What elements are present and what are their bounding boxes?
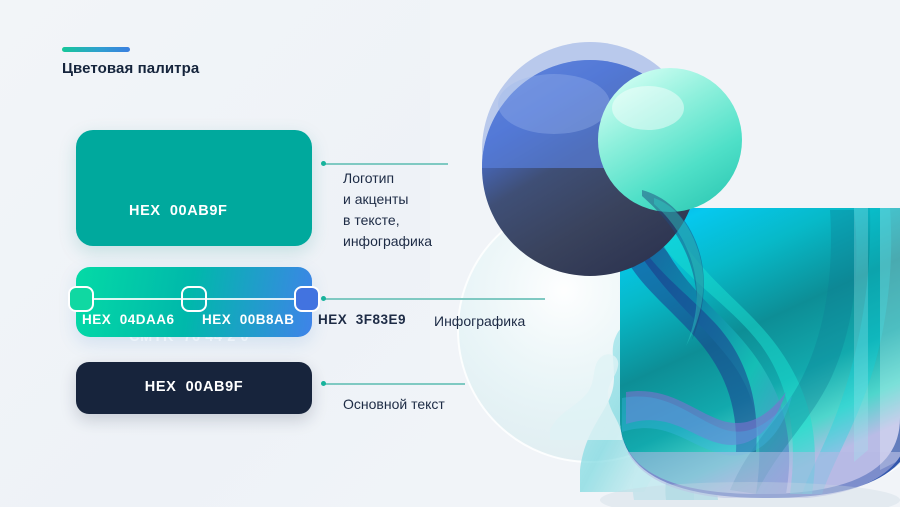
swatch-primary-hex: HEX 00AB9F bbox=[129, 201, 249, 222]
gradient-stop-2-label: HEX 00B8AB bbox=[202, 312, 295, 327]
swatch-dark-hex: HEX 00AB9F bbox=[76, 379, 312, 395]
swatch-card-gradient[interactable]: HEX 04DAA6 HEX 00B8AB bbox=[76, 267, 312, 337]
annotation-primary-l4: инфографика bbox=[343, 231, 432, 252]
gradient-pillar bbox=[620, 208, 900, 498]
annotation-dark: Основной текст bbox=[343, 394, 445, 415]
connector-line-gradient bbox=[322, 298, 545, 300]
annotation-primary: Логотип и акценты в тексте, инфографика bbox=[343, 168, 432, 252]
annotation-primary-l2: и акценты bbox=[343, 189, 432, 210]
swatch-card-primary[interactable]: HEX 00AB9F RGB 0 171 159 CMYK 76 44 2 0 bbox=[76, 130, 312, 246]
annotation-primary-l3: в тексте, bbox=[343, 210, 432, 231]
artwork-abstract-3d-fluid-render bbox=[430, 0, 900, 507]
connector-line-dark bbox=[322, 383, 465, 385]
accent-bar bbox=[62, 47, 130, 52]
gradient-stop-labels: HEX 04DAA6 HEX 00B8AB bbox=[76, 311, 312, 335]
slide: Цветовая палитра HEX 00AB9F RGB 0 171 15… bbox=[0, 0, 900, 507]
annotation-primary-l1: Логотип bbox=[343, 168, 432, 189]
swatch-card-dark[interactable]: HEX 00AB9F bbox=[76, 362, 312, 414]
page-title: Цветовая палитра bbox=[62, 60, 199, 77]
annotation-gradient: Инфографика bbox=[434, 311, 525, 332]
gradient-stop-3-handle[interactable] bbox=[294, 286, 320, 312]
gradient-stop-1-handle[interactable] bbox=[68, 286, 94, 312]
gradient-stop-1-label: HEX 04DAA6 bbox=[82, 312, 175, 327]
connector-line-primary bbox=[322, 163, 448, 165]
artwork-svg bbox=[430, 0, 900, 507]
mint-sphere bbox=[598, 68, 742, 212]
gradient-stop-3-label: HEX 3F83E9 bbox=[318, 312, 406, 327]
gradient-stop-2-handle[interactable] bbox=[181, 286, 207, 312]
